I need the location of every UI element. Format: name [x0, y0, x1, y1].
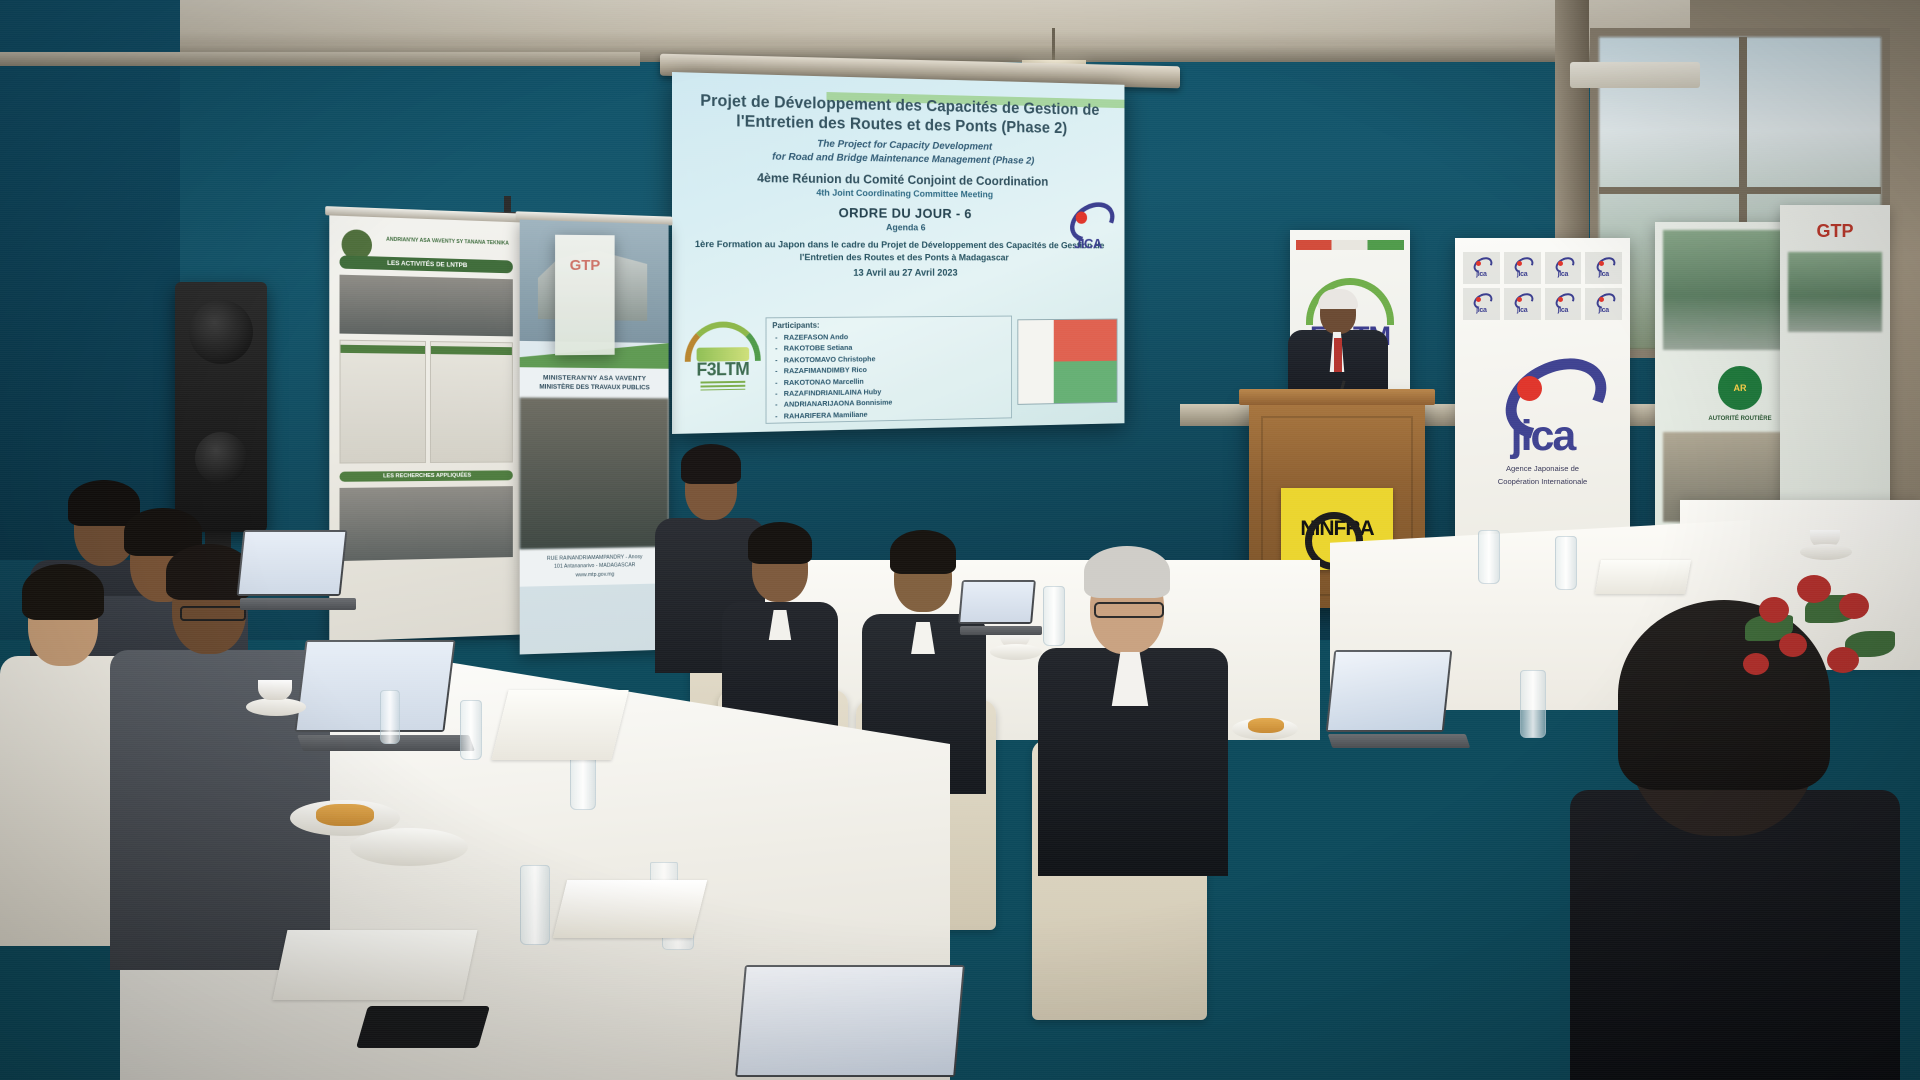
podium-top-surface — [1239, 389, 1435, 405]
ceiling-beam-left — [0, 52, 640, 66]
attendee-glasses-icon — [1094, 602, 1164, 618]
banner-gtp-right: GTP — [1780, 205, 1890, 505]
attendee-hair — [22, 564, 104, 620]
jica-tile: jica — [1545, 252, 1582, 284]
flower-bloom — [1827, 647, 1859, 673]
banner-city-photo — [520, 398, 669, 550]
laptop-keyboard — [960, 626, 1042, 635]
jica-main-logo: jica Agence Japonaise de Coopération Int… — [1455, 362, 1630, 488]
water-bottle — [460, 700, 482, 760]
f3ltm-wordmark: F3LTM — [682, 359, 764, 381]
slide-order-label: ORDRE DU JOUR - 6 — [686, 203, 1113, 222]
flag-green-band — [1054, 361, 1117, 403]
flower-bloom — [1779, 633, 1807, 657]
banner-gtp-left: GTP — [555, 235, 615, 356]
slide-jica-logo: JICA — [1063, 204, 1112, 252]
jica-mark-icon — [1063, 204, 1112, 236]
attendee-hair-grey — [1084, 546, 1170, 598]
attendee-hair — [890, 530, 956, 574]
laptop-screen — [294, 640, 455, 732]
banner-org-header: ANDRIAN'NY ASA VAVENTY SY TANANA TEKNIKA — [378, 236, 522, 248]
flower-bloom — [1839, 593, 1869, 619]
pastry — [316, 804, 374, 826]
documents — [491, 690, 628, 760]
attendee-glasses-icon — [180, 606, 246, 621]
speaker-cone-bottom — [195, 432, 247, 484]
jica-subtitle-2: Coopération Internationale — [1455, 476, 1630, 487]
water-bottle — [1520, 670, 1546, 738]
slide-agenda-label: Agenda 6 — [686, 221, 1113, 234]
f3ltm-arc-icon — [685, 321, 761, 362]
flower-arrangement — [1735, 575, 1905, 715]
f3ltm-logo-icon: F3LTM — [682, 321, 764, 391]
banner-research-poster: ANDRIAN'NY ASA VAVENTY SY TANANA TEKNIKA… — [329, 214, 522, 641]
smartphone — [356, 1006, 490, 1048]
banner-section-pill: LES ACTIVITÉS DE LNTPB — [340, 255, 513, 273]
pastry — [1248, 718, 1284, 733]
water-bottle — [1478, 530, 1500, 584]
saucer — [990, 644, 1042, 660]
jica-subtitle-1: Agence Japonaise de — [1455, 463, 1630, 474]
flag-white-band — [1018, 320, 1054, 404]
laptop — [1330, 650, 1460, 758]
laptop-keyboard — [1328, 734, 1471, 748]
jica-tile: jica — [1504, 288, 1541, 320]
jica-dot-icon — [1517, 376, 1542, 401]
conference-room-photo: Projet de Développement des Capacités de… — [0, 0, 1920, 1080]
laptop-screen — [1326, 650, 1453, 732]
slide: Projet de Développement des Capacités de… — [672, 72, 1124, 434]
projection-screen: Projet de Développement des Capacités de… — [672, 72, 1124, 434]
banner-column — [429, 341, 512, 463]
attendee-hair — [681, 444, 741, 484]
jica-dot-icon — [1076, 212, 1087, 224]
attendee-elderly-man — [1038, 540, 1228, 870]
notepad — [553, 880, 707, 938]
slide-body-line2: l'Entretien des Routes et des Ponts à Ma… — [686, 252, 1113, 265]
documents — [273, 930, 478, 1000]
flower-bloom — [1759, 597, 1789, 623]
laptop — [960, 580, 1040, 640]
flag-strip-icon — [1296, 240, 1404, 250]
laptop — [740, 965, 970, 1080]
banner-gtp-photo — [1788, 252, 1882, 332]
saucer — [1800, 544, 1852, 560]
jica-mark-icon — [1491, 362, 1595, 420]
participants-heading: Participants: — [772, 319, 1006, 330]
jica-logo-tile-grid: jica jica jica jica jica jica jica jica — [1455, 238, 1630, 320]
laptop-screen — [237, 530, 348, 596]
slide-date-range: 13 Avril au 27 Avril 2023 — [686, 268, 1113, 279]
water-bottle — [380, 690, 400, 744]
participants-list: Participants: RAZEFASON Ando RAKOTOBE Se… — [766, 316, 1012, 424]
ministry-name-fr: MINISTÈRE DES TRAVAUX PUBLICS — [526, 383, 663, 391]
speaker-cone-top — [189, 300, 253, 364]
banner-photo-1 — [340, 274, 513, 336]
road-authority-seal-icon: AR — [1718, 366, 1762, 410]
attendee-hair — [748, 522, 812, 564]
banner-column — [340, 339, 426, 463]
pa-loudspeaker — [175, 282, 267, 532]
laptop-screen — [735, 965, 965, 1077]
jica-tile: jica — [1585, 288, 1622, 320]
window-mullion-h — [1599, 187, 1881, 194]
flower-bloom — [1743, 653, 1769, 675]
jica-tile: jica — [1463, 252, 1500, 284]
gtp-wordmark: GTP — [555, 257, 615, 274]
documents — [1595, 560, 1691, 594]
laptop — [240, 530, 350, 618]
saucer — [246, 698, 306, 716]
presenter-hair — [1318, 289, 1358, 309]
lamp-cord — [1052, 28, 1055, 64]
coffee-cup — [258, 680, 292, 700]
banner-section-pill-2: LES RECHERCHES APPLIQUÉES — [340, 470, 513, 481]
f3ltm-bars-icon — [701, 381, 746, 391]
air-conditioner — [1570, 62, 1700, 88]
plate — [350, 828, 468, 866]
water-bottle — [520, 865, 550, 945]
jica-tile: jica — [1585, 252, 1622, 284]
jica-tile: jica — [1545, 288, 1582, 320]
slide-body-line1: 1ère Formation au Japon dans le cadre du… — [686, 239, 1113, 253]
left-wall-section — [0, 0, 180, 560]
ministry-name-mg: MINISTERAN'NY ASA VAVENTY — [526, 374, 663, 382]
ministry-website: www.mtp.gov.mg — [524, 569, 665, 580]
flower-bloom — [1797, 575, 1831, 603]
madagascar-flag-icon — [1017, 319, 1117, 405]
presenter-tie — [1334, 338, 1342, 372]
banner-photo-2 — [340, 486, 513, 561]
gtp-wordmark-right: GTP — [1780, 221, 1890, 242]
jica-tile: jica — [1504, 252, 1541, 284]
road-seal-text: AR — [1734, 383, 1747, 393]
flag-red-band — [1054, 320, 1117, 362]
laptop-keyboard — [240, 598, 356, 610]
jica-tile: jica — [1463, 288, 1500, 320]
water-bottle — [1555, 536, 1577, 590]
laptop-screen — [958, 580, 1036, 624]
